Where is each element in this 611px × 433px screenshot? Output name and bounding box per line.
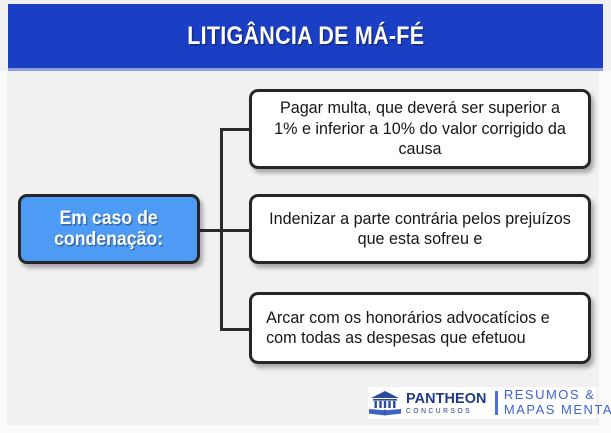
branch-node-2[interactable]: Indenizar a parte contrária pelos prejuí… [249,194,591,264]
mind-map-page: LITIGÂNCIA DE MÁ-FÉ Em caso de condenaçã… [0,0,611,433]
page-edge-left [0,71,7,433]
footer-logo: PANTHEON CONCURSOS RESUMOS & MAPAS MENTA… [368,387,596,419]
page-edge-right [599,71,611,433]
branch-node-1-label: Pagar multa, que deverá ser superior a 1… [260,98,579,159]
header-underline [8,68,603,71]
page-edge-bottom [0,425,611,433]
logo-brand-name: PANTHEON [406,391,487,406]
root-node-label: Em caso de condenação: [54,208,163,251]
logo-tagline-line2: MAPAS MENTAIS [504,403,611,418]
root-node[interactable]: Em caso de condenação: [18,194,200,264]
logo-tagline-line1: RESUMOS & [504,388,611,403]
logo-tagline: RESUMOS & MAPAS MENTAIS [504,388,611,417]
header-banner: LITIGÂNCIA DE MÁ-FÉ [8,4,603,68]
connector-branch-3 [220,328,252,331]
branch-node-2-label: Indenizar a parte contrária pelos prejuí… [260,209,579,250]
branch-node-1[interactable]: Pagar multa, que deverá ser superior a 1… [249,89,591,169]
connector-branch-1 [220,128,252,131]
branch-node-3-label: Arcar com os honorários advocatícios e c… [260,308,579,349]
logo-brand-subtitle: CONCURSOS [406,408,487,415]
page-title: LITIGÂNCIA DE MÁ-FÉ [187,22,424,51]
connector-branch-2 [220,229,252,232]
branch-node-3[interactable]: Arcar com os honorários advocatícios e c… [249,292,591,364]
logo-brand: PANTHEON CONCURSOS [406,391,490,415]
logo-divider [495,391,498,415]
pantheon-temple-book-icon [368,390,402,416]
